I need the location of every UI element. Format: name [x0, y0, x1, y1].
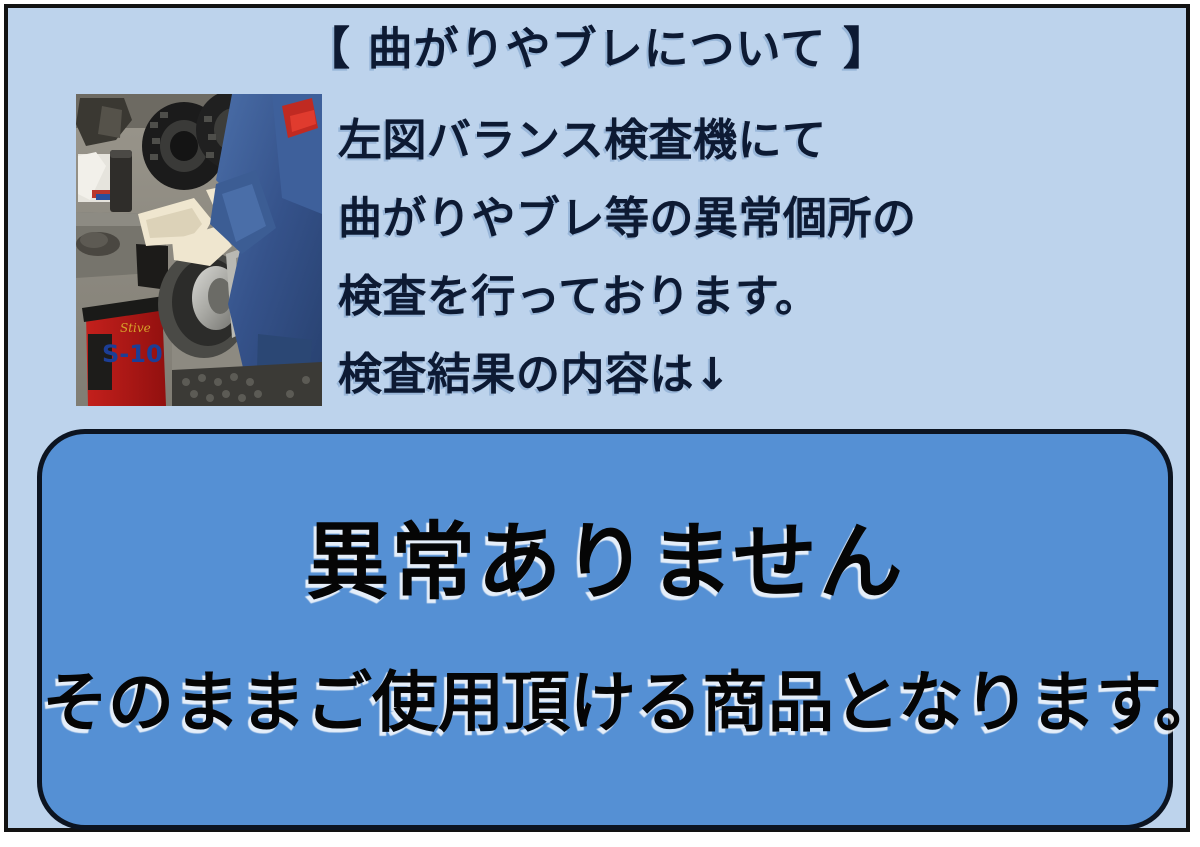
notice-canvas: 【 曲がりやブレについて 】: [0, 0, 1200, 847]
svg-text:S-10: S-10: [102, 340, 163, 368]
svg-text:Stive: Stive: [120, 321, 151, 335]
result-detail-text: そのままご使用頂ける商品となります。: [42, 660, 1168, 746]
inspection-result-panel: 異常ありません そのままご使用頂ける商品となります。: [37, 429, 1173, 830]
page-title: 【 曲がりやブレについて 】: [8, 20, 1186, 78]
notice-card: 【 曲がりやブレについて 】: [4, 4, 1190, 832]
description-line-3: 検査を行っております。: [338, 258, 1178, 336]
description-block: 左図バランス検査機にて 曲がりやブレ等の異常個所の 検査を行っております。 検査…: [338, 102, 1178, 414]
result-status-text: 異常ありません: [42, 512, 1168, 612]
description-line-2: 曲がりやブレ等の異常個所の: [338, 180, 1178, 258]
balance-inspection-photo: Stive S-10: [76, 94, 322, 406]
photo-illustration: Stive S-10: [76, 94, 322, 406]
description-line-4: 検査結果の内容は↓: [338, 336, 1178, 414]
description-line-1: 左図バランス検査機にて: [338, 102, 1178, 180]
